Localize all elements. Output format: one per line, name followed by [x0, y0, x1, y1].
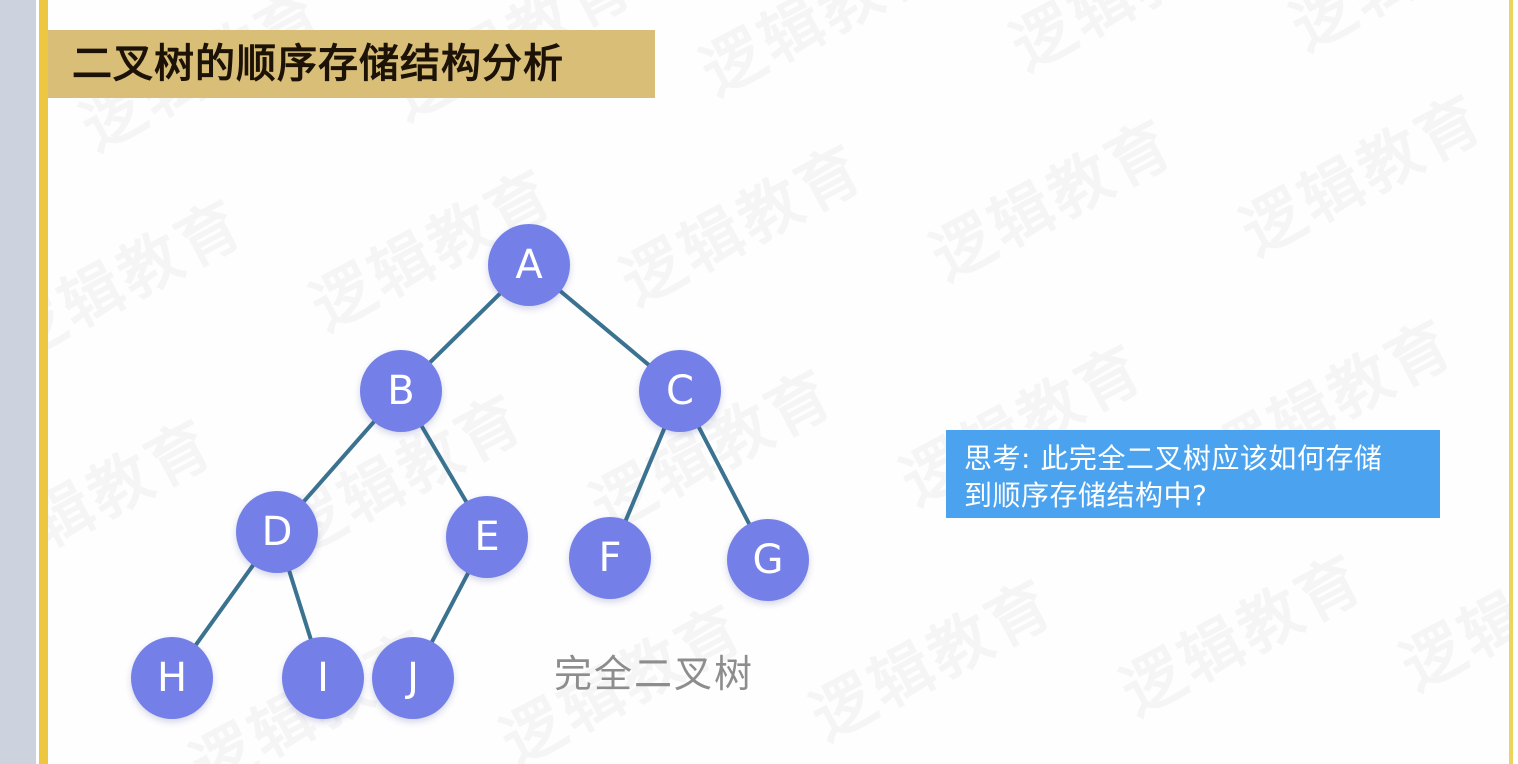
tree-node-e[interactable]: E — [446, 496, 528, 578]
tree-node-label: C — [666, 371, 694, 411]
tree-node-h[interactable]: H — [131, 637, 213, 719]
tree-node-label: G — [753, 540, 784, 580]
callout-line-1: 思考: 此完全二叉树应该如何存储 — [964, 440, 1424, 477]
tree-edge-D-H — [194, 563, 255, 647]
tree-node-j[interactable]: J — [372, 637, 454, 719]
tree-edge-C-G — [698, 425, 751, 527]
tree-node-label: F — [598, 538, 621, 578]
gold-rule-left — [39, 0, 48, 764]
tree-edge-C-F — [625, 426, 666, 523]
tree-node-g[interactable]: G — [727, 519, 809, 601]
watermark-text: 逻辑教育 — [1102, 528, 1377, 731]
question-callout: 思考: 此完全二叉树应该如何存储 到顺序存储结构中? — [946, 430, 1440, 518]
left-gutter-strip — [0, 0, 36, 764]
gold-rule-right — [1509, 0, 1513, 764]
binary-tree-diagram: ABCDEFGHIJ — [48, 0, 948, 764]
tree-edge-B-D — [302, 420, 376, 504]
tree-node-label: J — [407, 658, 419, 698]
tree-node-label: I — [317, 658, 329, 698]
watermark-text: 逻辑教育 — [1272, 0, 1509, 67]
tree-node-f[interactable]: F — [569, 517, 651, 599]
tree-node-label: B — [387, 371, 414, 411]
tree-node-a[interactable]: A — [488, 224, 570, 306]
slide-canvas: 逻辑教育逻辑教育逻辑教育逻辑教育逻辑教育逻辑教育逻辑教育逻辑教育逻辑教育逻辑教育… — [48, 0, 1509, 764]
tree-node-c[interactable]: C — [639, 350, 721, 432]
tree-node-d[interactable]: D — [236, 491, 318, 573]
tree-edge-A-C — [558, 289, 651, 366]
tree-edge-E-J — [431, 571, 470, 645]
slide-root: 逻辑教育逻辑教育逻辑教育逻辑教育逻辑教育逻辑教育逻辑教育逻辑教育逻辑教育逻辑教育… — [0, 0, 1518, 764]
watermark-text: 逻辑教育 — [912, 93, 1187, 296]
tree-edge-D-I — [288, 568, 311, 642]
tree-node-label: A — [515, 245, 542, 285]
tree-node-label: E — [474, 517, 499, 557]
watermark-text: 逻辑教育 — [1222, 68, 1497, 271]
tree-node-b[interactable]: B — [360, 350, 442, 432]
tree-node-label: D — [262, 512, 293, 552]
tree-node-i[interactable]: I — [282, 637, 364, 719]
watermark-text: 逻辑教育 — [1382, 503, 1509, 706]
watermark-text: 逻辑教育 — [992, 0, 1267, 87]
tree-caption: 完全二叉树 — [554, 655, 754, 693]
callout-line-2: 到顺序存储结构中? — [964, 477, 1424, 514]
tree-edge-B-E — [420, 424, 467, 505]
tree-node-label: H — [157, 658, 187, 698]
tree-edge-A-B — [428, 292, 502, 365]
